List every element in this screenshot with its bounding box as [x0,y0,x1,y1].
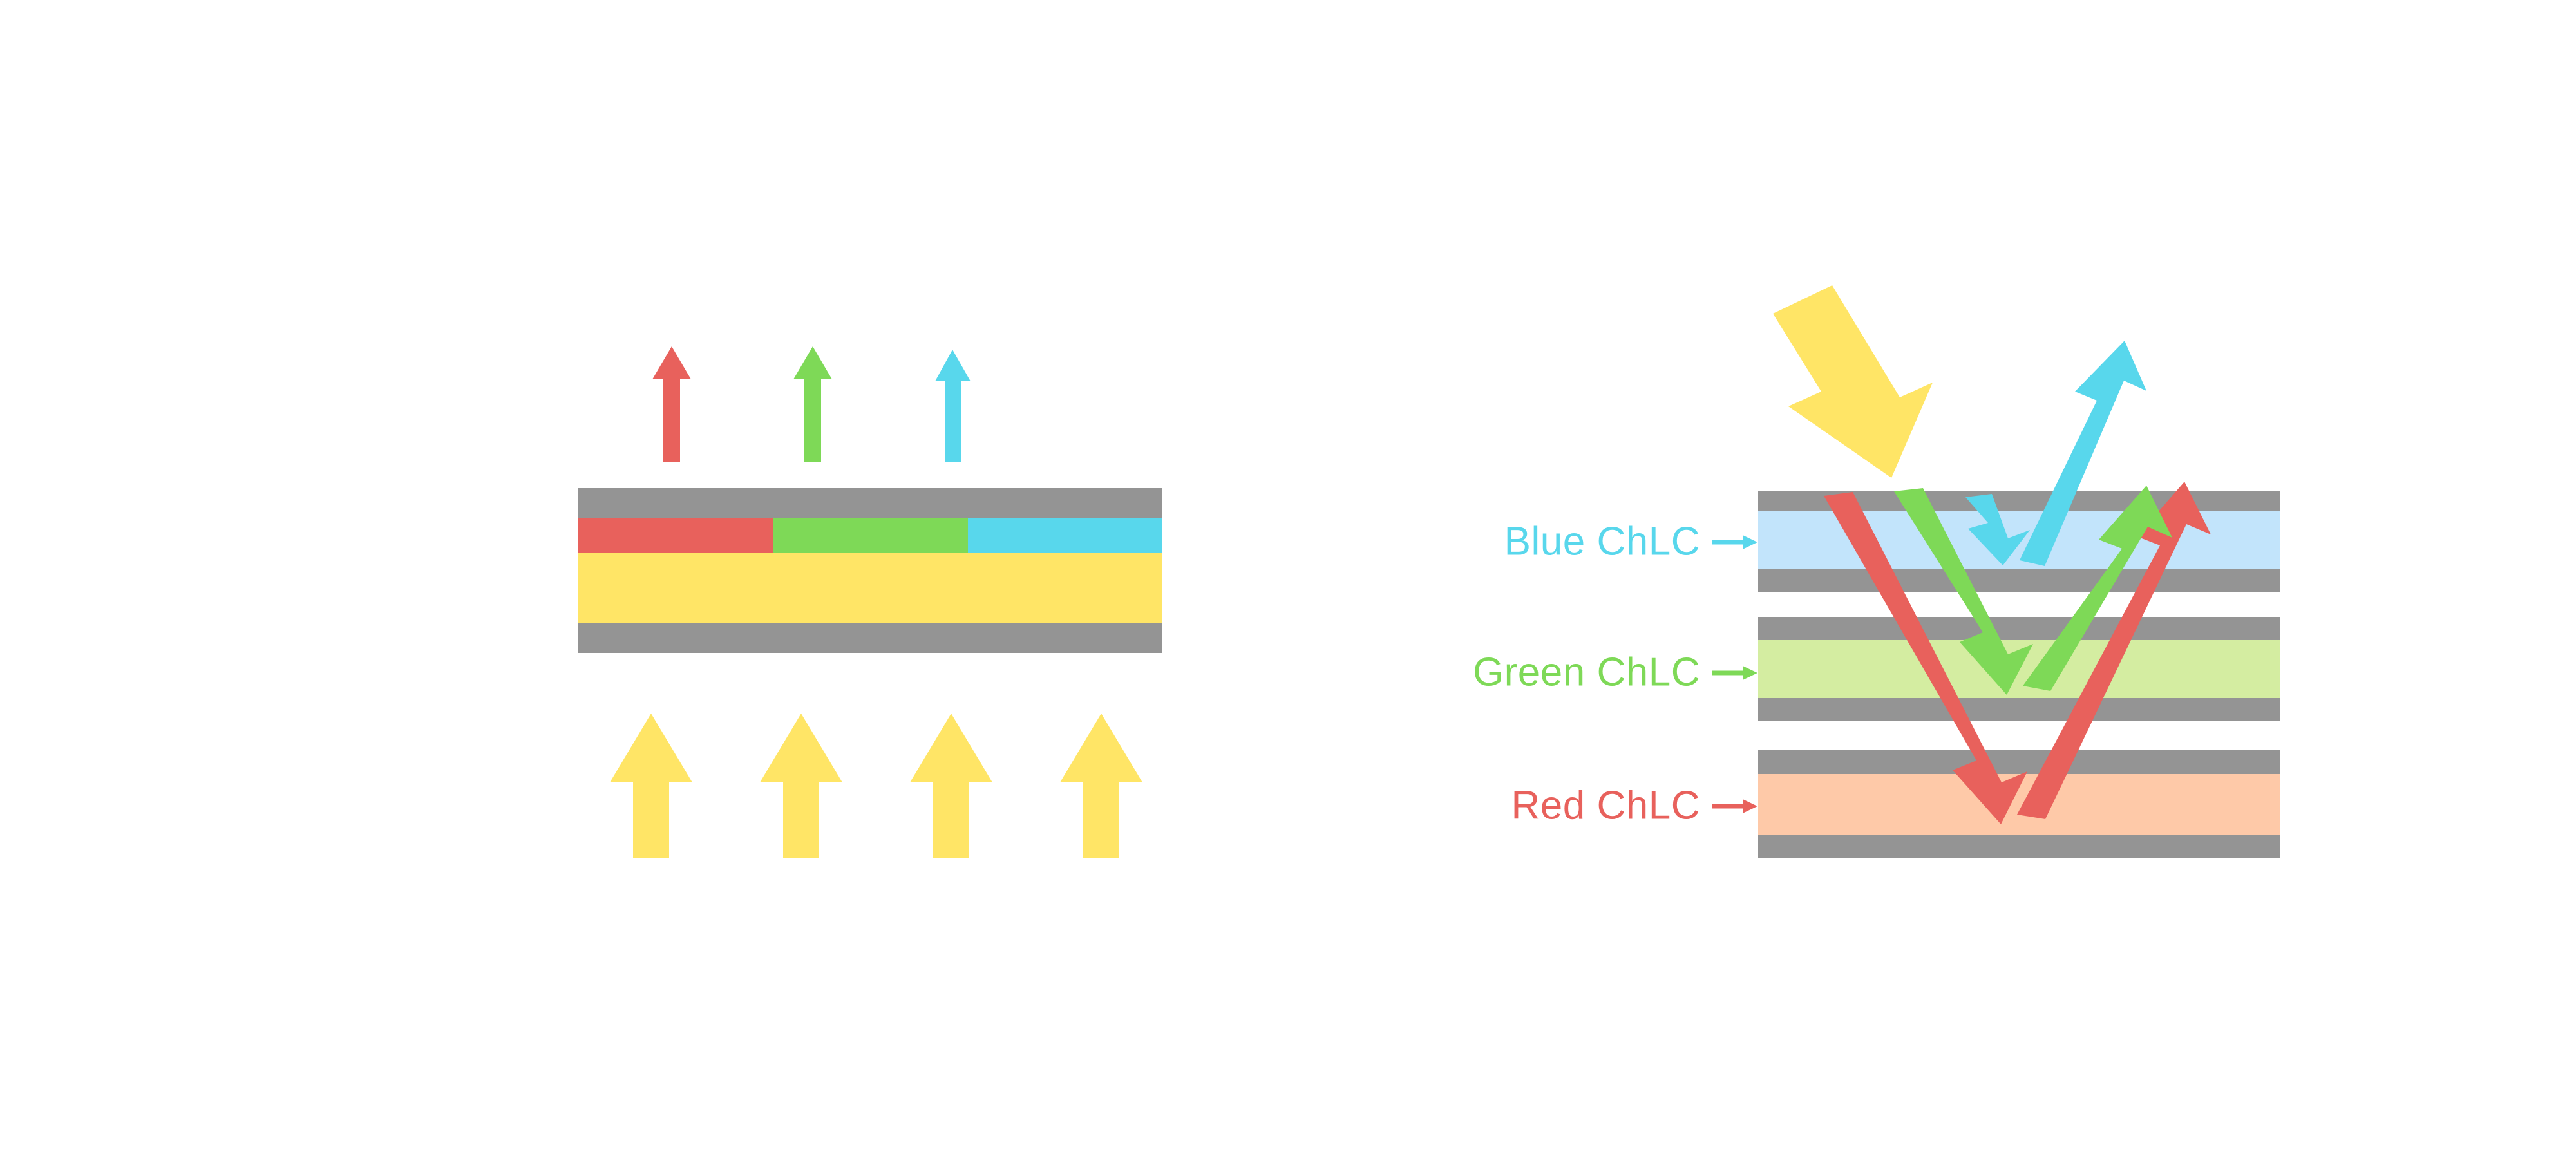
top-electrode [578,488,1162,518]
red-bottom-electrode [1758,835,2280,858]
blue-filter [968,518,1162,553]
blue-chlc-label: Blue ChLC [1504,519,1700,563]
green-chlc-label: Green ChLC [1473,650,1700,694]
green-top-electrode [1758,617,2280,640]
display-layer-stack [578,488,1162,653]
green-filter [773,518,968,553]
bottom-electrode [578,623,1162,653]
chlc-layer-stack [1758,491,2280,858]
backlight-layer [578,553,1162,623]
diagram-stage: Blue ChLC Green ChLC Red ChLC [0,0,2576,1154]
red-top-electrode [1758,750,2280,774]
red-chlc-label: Red ChLC [1511,783,1700,828]
chlc-display-diagram: Blue ChLC Green ChLC Red ChLC [0,0,2576,1154]
green-bottom-electrode [1758,698,2280,721]
red-filter [578,518,773,553]
blue-bottom-electrode [1758,569,2280,592]
